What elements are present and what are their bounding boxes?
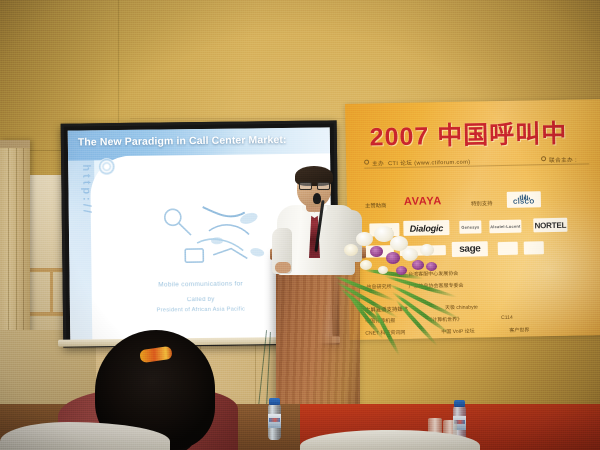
column-cap [0,140,30,148]
bottle-cap [269,398,280,405]
flower-arrangement [330,222,470,352]
sponsor-logo-cisco: CISCO [507,191,541,208]
sponsor-logo-nortel: NORTEL [533,218,567,233]
main-sponsor-label: 主赞助商 [365,201,387,209]
sponsor-logo-alcatel: Alcatel-Lucent [489,220,521,234]
cisco-wordmark: CISCO [513,199,535,205]
media-item: 客户世界 [509,327,529,334]
microphone-head [313,193,321,204]
media-item: C114 [501,315,513,321]
banner-headline: 2007 中国呼叫中 [369,114,567,154]
conference-photo: 2007 中国呼叫中 主办 CTI 论坛 (www.ctiforum.com) … [0,0,600,450]
sponsor-logo-generic [498,242,518,255]
glasses-icon [299,182,329,188]
bottle-cap [454,400,465,407]
bullet-icon [541,156,546,161]
sponsor-logo-avaya: AVAYA [399,194,447,209]
sponsor-logo-generic [524,241,544,254]
special-support-label: 特别支持 [471,199,493,207]
speaker-hand [275,262,291,273]
wall-seam [255,340,256,410]
alcove-divider [50,268,53,316]
bullet-icon [364,160,369,165]
bottle-label [268,414,281,428]
